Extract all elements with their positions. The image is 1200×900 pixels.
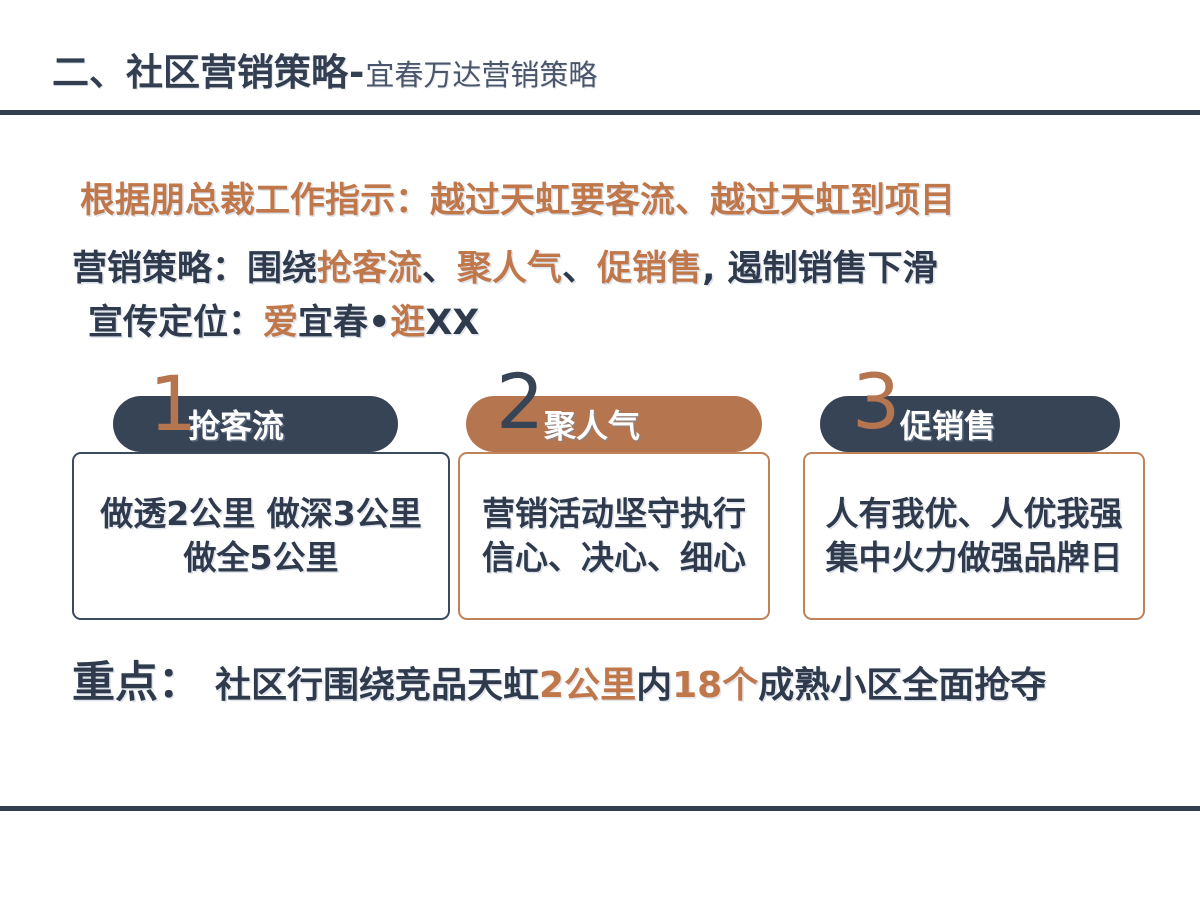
pillar-pill-2[interactable]: 2 聚人气 (466, 396, 762, 452)
pillar-box-3-line-2: 集中火力做强品牌日 (826, 536, 1123, 580)
keypoint-body: 社区行围绕竞品天虹2公里内18个成熟小区全面抢夺 (215, 656, 1046, 708)
keypoint-seg1: 社区行围绕竞品天虹 (215, 665, 539, 706)
pillar-box-1-line-1: 做透2公里 做深3公里 (100, 492, 421, 536)
pillar-box-1-line-2: 做全5公里 (184, 536, 339, 580)
pillar-number-1: 1 (149, 366, 197, 442)
pillar-number-2: 2 (496, 364, 544, 440)
headline-l2-accent-3: 促销售 (597, 249, 702, 289)
keypoint-label: 重点： (72, 648, 201, 710)
page-title-sub: 宜春万达营销策略 (365, 52, 597, 94)
pillar-box-2-line-2: 信心、决心、细心 (482, 536, 746, 580)
pillar-label-1: 抢客流 (188, 401, 284, 447)
keypoint-line: 重点： 社区行围绕竞品天虹2公里内18个成熟小区全面抢夺 (72, 648, 1046, 710)
keypoint-accent-2: 18个 (672, 665, 758, 706)
headline-l3-accent-1: 爱 (263, 303, 298, 343)
page-title-main: 二、社区营销策略 (52, 42, 348, 96)
pillar-pill-1[interactable]: 1 抢客流 (113, 396, 398, 452)
headline-l3-seg1: 宣传定位： (88, 303, 263, 343)
headline-line-1: 根据朋总裁工作指示：越过天虹要客流、越过天虹到项目 (80, 172, 955, 223)
divider-top (0, 110, 1200, 115)
pillar-label-2: 聚人气 (544, 401, 640, 447)
page-title-dash: - (349, 51, 364, 94)
pillar-number-3: 3 (852, 364, 900, 440)
headline-line-2: 营销策略：围绕抢客流、聚人气、促销售, 遏制销售下滑 (72, 240, 938, 291)
pillar-pill-3[interactable]: 3 促销售 (820, 396, 1120, 452)
pillar-box-3-line-1: 人有我优、人优我强 (826, 492, 1123, 536)
page-title: 二、社区营销策略 - 宜春万达营销策略 (52, 42, 597, 96)
divider-bottom (0, 806, 1200, 811)
headline-l2-seg1: 营销策略：围绕 (72, 249, 317, 289)
headline-l3-accent-2: 逛 (390, 303, 425, 343)
headline-l2-accent-1: 抢客流 (317, 249, 422, 289)
slide-canvas: 二、社区营销策略 - 宜春万达营销策略 根据朋总裁工作指示：越过天虹要客流、越过… (0, 0, 1200, 900)
keypoint-seg3: 内 (636, 665, 672, 706)
headline-line-3: 宣传定位：爱宜春•逛XX (88, 294, 479, 345)
pillar-label-3: 促销售 (900, 401, 996, 447)
pillar-box-2: 营销活动坚守执行 信心、决心、细心 (458, 452, 770, 620)
pillar-box-3: 人有我优、人优我强 集中火力做强品牌日 (803, 452, 1145, 620)
headline-l3-seg5: XX (425, 303, 479, 343)
headline-l2-seg3: 、 (422, 249, 457, 289)
headline-l2-seg5: 、 (562, 249, 597, 289)
headline-l3-seg3: 宜春• (298, 303, 390, 343)
keypoint-accent-1: 2公里 (539, 665, 636, 706)
headline-l2-accent-2: 聚人气 (457, 249, 562, 289)
pillar-box-1: 做透2公里 做深3公里 做全5公里 (72, 452, 450, 620)
pillar-box-2-line-1: 营销活动坚守执行 (482, 492, 746, 536)
headline-l2-seg7: , 遏制销售下滑 (702, 249, 937, 289)
keypoint-seg5: 成熟小区全面抢夺 (758, 665, 1046, 706)
